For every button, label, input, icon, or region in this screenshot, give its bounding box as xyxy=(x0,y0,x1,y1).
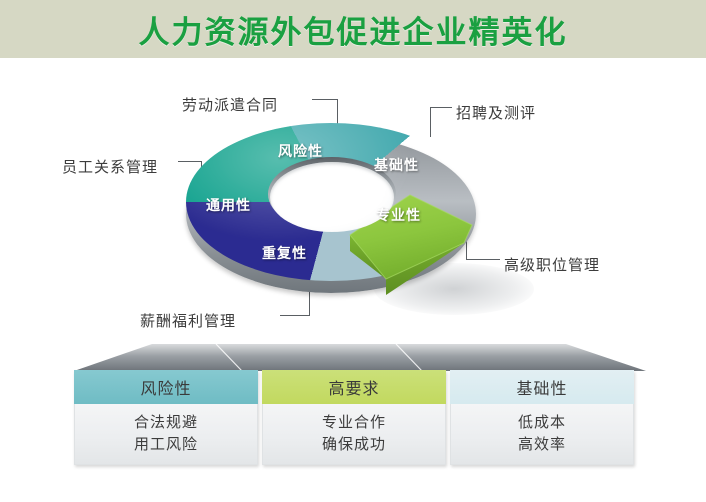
table-cell-risk-line2: 用工风险 xyxy=(134,434,198,456)
callout-senior-position-management: 高级职位管理 xyxy=(504,254,600,275)
table-header-foundational: 基础性 xyxy=(450,370,634,404)
table-cell-foundational: 低成本 高效率 xyxy=(450,404,634,465)
segment-label-risk: 风险性 xyxy=(278,141,323,161)
segment-label-general: 通用性 xyxy=(206,195,251,215)
table-column-risk[interactable]: 风险性 合法规避 用工风险 xyxy=(74,370,258,465)
slide-canvas: 人力资源外包促进企业精英化 劳动派遣合同 员工关系管理 招聘及测评 高级职位管理… xyxy=(0,0,706,502)
table-cell-high-requirement: 专业合作 确保成功 xyxy=(262,404,446,465)
table-column-foundational[interactable]: 基础性 低成本 高效率 xyxy=(450,370,634,465)
page-title: 人力资源外包促进企业精英化 xyxy=(0,0,706,58)
table-header-risk: 风险性 xyxy=(74,370,258,404)
table-column-high-requirement[interactable]: 高要求 专业合作 确保成功 xyxy=(262,370,446,465)
segment-label-professional: 专业性 xyxy=(376,205,421,225)
table-cell-foundational-line1: 低成本 xyxy=(518,412,566,434)
donut-graphic: 风险性 基础性 专业性 重复性 通用性 xyxy=(178,113,508,328)
callout-employee-relations: 员工关系管理 xyxy=(62,156,158,177)
table-cell-risk: 合法规避 用工风险 xyxy=(74,404,258,465)
table-cell-foundational-line2: 高效率 xyxy=(518,434,566,456)
segment-label-repetitive: 重复性 xyxy=(262,243,307,263)
table-cell-high-requirement-line2: 确保成功 xyxy=(322,434,386,456)
segment-label-foundational: 基础性 xyxy=(374,155,419,175)
donut-chart: 劳动派遣合同 员工关系管理 招聘及测评 高级职位管理 薪酬福利管理 xyxy=(0,58,706,340)
table-header-high-requirement: 高要求 xyxy=(262,370,446,404)
table-3d-top-face xyxy=(66,344,646,372)
callout-labor-dispatch-contract: 劳动派遣合同 xyxy=(182,94,278,115)
table-cell-high-requirement-line1: 专业合作 xyxy=(322,412,386,434)
table-columns: 风险性 合法规避 用工风险 高要求 专业合作 确保成功 基础性 低成本 高效率 xyxy=(74,370,634,465)
table-cell-risk-line1: 合法规避 xyxy=(134,412,198,434)
summary-table: 风险性 合法规避 用工风险 高要求 专业合作 确保成功 基础性 低成本 高效率 xyxy=(0,340,706,502)
